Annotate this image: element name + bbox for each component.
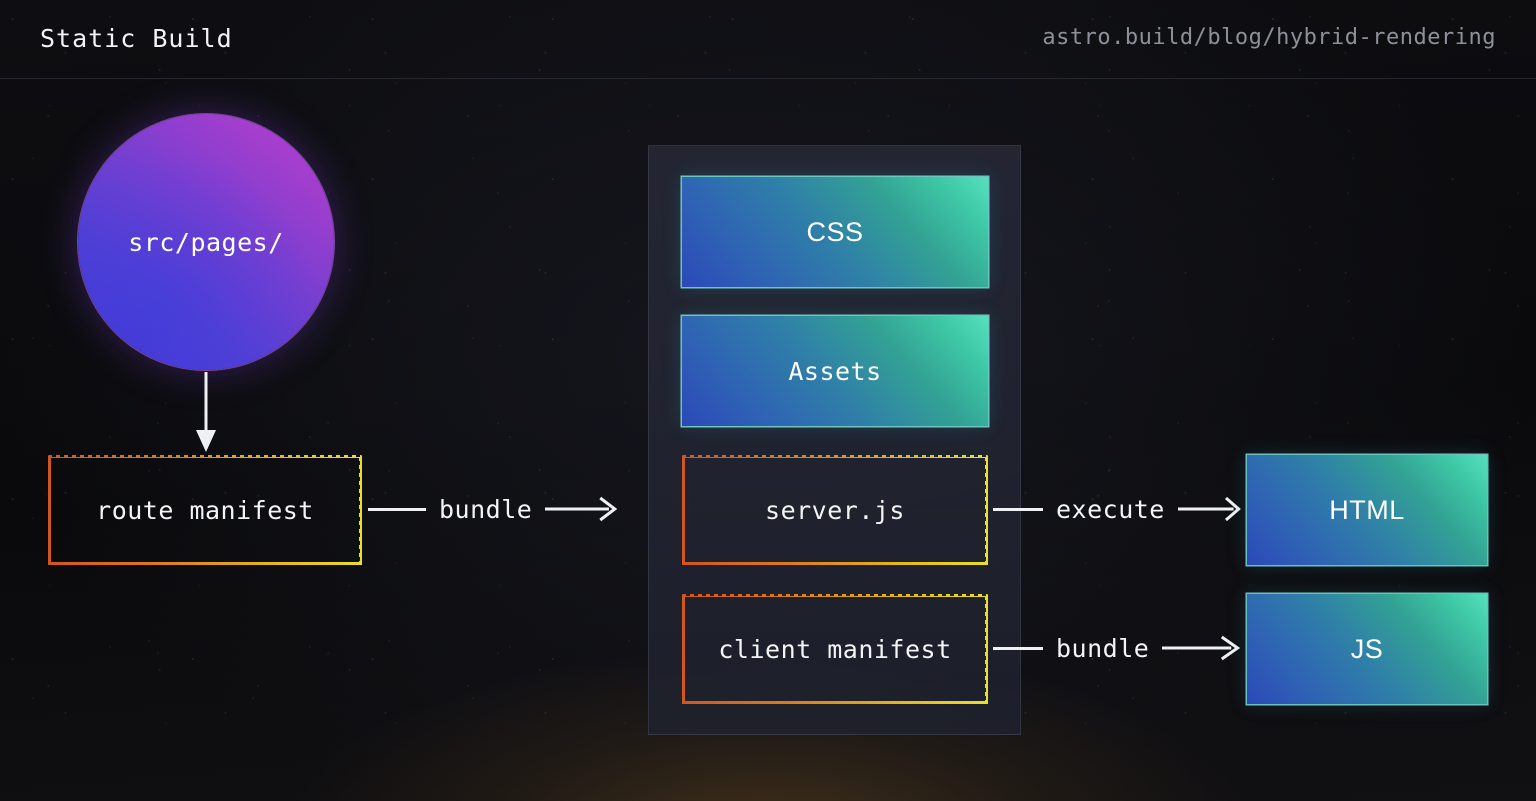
node-assets-label: Assets [788, 357, 881, 386]
page-title: Static Build [40, 24, 233, 53]
node-css[interactable]: CSS [682, 177, 988, 287]
arrow-right-icon [1178, 489, 1241, 529]
node-assets[interactable]: Assets [682, 316, 988, 426]
header-bar: Static Build astro.build/blog/hybrid-ren… [0, 0, 1536, 79]
arrow-label-bundle-client: bundle [1043, 634, 1162, 663]
arrow-src-to-route-manifest [190, 372, 222, 454]
arrow-right-icon [545, 489, 618, 529]
arrow-bundle-client-to-js: bundle [993, 628, 1241, 668]
arrow-line-left [993, 508, 1043, 511]
arrow-line-left [993, 647, 1043, 650]
arrow-bundle-route-to-server: bundle [368, 489, 618, 529]
arrow-label-bundle: bundle [426, 495, 545, 524]
arrow-label-execute: execute [1043, 495, 1178, 524]
arrow-head-right [1178, 489, 1241, 529]
arrow-head-right [545, 489, 618, 529]
source-url: astro.build/blog/hybrid-rendering [1042, 25, 1496, 50]
node-route-manifest[interactable]: route manifest [48, 455, 362, 565]
arrow-line-left [368, 508, 426, 511]
node-css-label: CSS [806, 217, 863, 248]
diagram-canvas: Static Build astro.build/blog/hybrid-ren… [0, 0, 1536, 801]
node-js-label: JS [1351, 634, 1384, 665]
node-src-pages-label: src/pages/ [128, 228, 284, 257]
node-client-manifest[interactable]: client manifest [682, 594, 988, 704]
node-server-js[interactable]: server.js [682, 455, 988, 565]
node-html-label: HTML [1329, 495, 1405, 526]
node-src-pages[interactable]: src/pages/ [78, 114, 334, 370]
node-server-js-label: server.js [765, 496, 905, 525]
arrow-down-icon [190, 372, 222, 454]
arrow-execute-server-to-html: execute [993, 489, 1241, 529]
node-js[interactable]: JS [1247, 594, 1487, 704]
arrow-right-icon [1162, 628, 1241, 668]
node-route-manifest-label: route manifest [96, 496, 314, 525]
node-client-manifest-label: client manifest [718, 635, 951, 664]
arrow-head-right [1162, 628, 1241, 668]
node-html[interactable]: HTML [1247, 455, 1487, 565]
